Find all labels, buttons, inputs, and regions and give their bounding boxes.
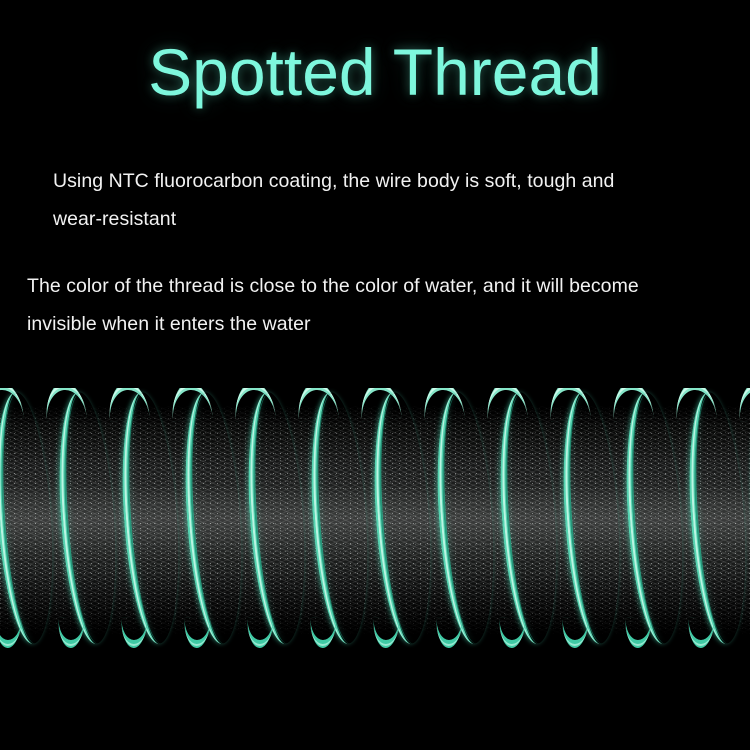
- coil-foot-hi: [184, 621, 211, 646]
- fishing-line-coil: [376, 388, 422, 648]
- coil-foot-hi: [499, 621, 526, 646]
- fishing-line-coil: [313, 388, 359, 648]
- coil-foot-hi: [625, 621, 652, 646]
- coil-foot-hi: [0, 621, 21, 646]
- fishing-line-coil: [502, 388, 548, 648]
- coil-foot-hi: [58, 621, 85, 646]
- coil-foot-hi: [121, 621, 148, 646]
- coil-strand-sh: [120, 391, 185, 646]
- fishing-line-coils: [0, 388, 750, 648]
- product-photo: [0, 388, 750, 648]
- fishing-line-coil: [691, 388, 737, 648]
- coil-strand-sh: [498, 391, 563, 646]
- coil-strand-sh: [183, 391, 248, 646]
- coil-strand-sh: [0, 391, 59, 646]
- coil-strand-sh: [624, 391, 689, 646]
- coil-foot-hi: [688, 621, 715, 646]
- coil-cap-hi: [736, 388, 750, 419]
- page-title-container: Spotted Thread: [0, 38, 750, 107]
- fishing-line-coil: [565, 388, 611, 648]
- product-banner: Spotted Thread Using NTC fluorocarbon co…: [0, 0, 750, 750]
- coil-strand-sh: [561, 391, 626, 646]
- coil-strand-sh: [435, 391, 500, 646]
- fishing-line-coil: [439, 388, 485, 648]
- page-title: Spotted Thread: [148, 38, 602, 107]
- coil-strand-sh: [57, 391, 122, 646]
- fishing-line-coil: [187, 388, 233, 648]
- coil-foot-hi: [247, 621, 274, 646]
- fishing-line-coil: [628, 388, 674, 648]
- coil-strand-sh: [687, 391, 750, 646]
- coil-strand-sh: [372, 391, 437, 646]
- paragraph-2-line-1: The color of the thread is close to the …: [27, 267, 739, 305]
- coil-foot-hi: [562, 621, 589, 646]
- coil-foot-hi: [310, 621, 337, 646]
- fishing-line-coil: [250, 388, 296, 648]
- paragraph-1-line-2: wear-resistant: [53, 200, 713, 238]
- coil-strand-sh: [309, 391, 374, 646]
- coil-foot-hi: [436, 621, 463, 646]
- fishing-line-coil: [0, 388, 44, 648]
- feature-paragraph-2: The color of the thread is close to the …: [27, 267, 739, 343]
- feature-paragraph-1: Using NTC fluorocarbon coating, the wire…: [53, 162, 713, 238]
- coil-foot-hi: [373, 621, 400, 646]
- coil-strand-sh: [246, 391, 311, 646]
- fishing-line-coil: [124, 388, 170, 648]
- paragraph-2-line-2: invisible when it enters the water: [27, 305, 739, 343]
- paragraph-1-line-1: Using NTC fluorocarbon coating, the wire…: [53, 162, 713, 200]
- fishing-line-coil: [61, 388, 107, 648]
